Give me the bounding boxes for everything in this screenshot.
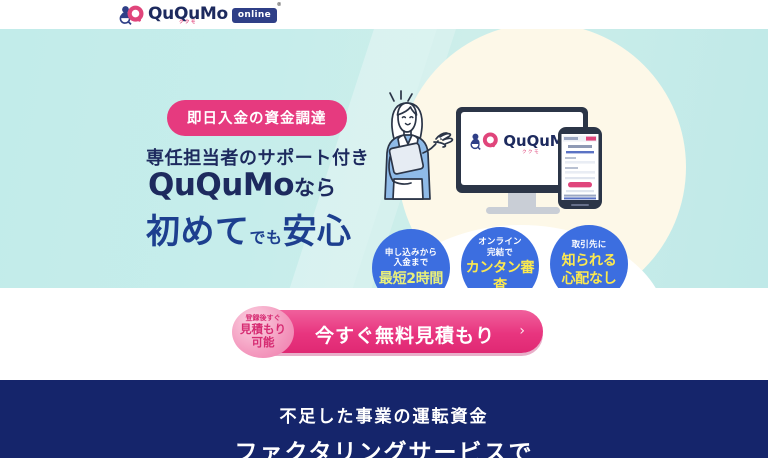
logo-ruby: ククモ [179, 21, 197, 26]
hero-section: QuQuMo ククモ [0, 29, 768, 288]
bottom-headline-line2: ファクタリングサービスで [234, 433, 533, 458]
hero-feature-circles: 申し込みから 入金まで 最短2時間 オンライン 完結で カンタン審査 取引先に … [372, 229, 654, 288]
site-logo[interactable]: QuQuMo ククモ online ® [118, 3, 277, 26]
landing-page: QuQuMo ククモ online ® [0, 0, 768, 458]
smartphone-icon [558, 127, 602, 209]
feature-circle-speed-top2: 入金まで [394, 258, 429, 269]
cta-side-badge-line3: 可能 [252, 336, 275, 350]
hero-badge-pill: 即日入金の資金調達 [167, 100, 347, 136]
trademark-symbol: ® [277, 2, 282, 8]
hero-illustration: QuQuMo ククモ [368, 87, 638, 239]
presenter-woman-icon [385, 91, 452, 199]
cta-side-badge-line2: 見積もり [240, 323, 286, 337]
feature-circle-privacy-value1: 知られる [562, 253, 617, 270]
feature-circle-privacy-top1: 取引先に [572, 240, 607, 251]
cta-section: 今すぐ無料見積もり › [0, 288, 768, 380]
ququmo-q-mark-icon [118, 4, 144, 26]
feature-circle-speed: 申し込みから 入金まで 最短2時間 [372, 229, 450, 288]
cta-side-badge: 登録後すぐ 見積もり 可能 [232, 306, 294, 358]
hero-headline-line3-small: でも [250, 228, 283, 247]
feature-circle-privacy: 取引先に 知られる 心配なし [550, 225, 628, 288]
bottom-headline-line1: 不足した事業の運転資金 [280, 402, 489, 427]
site-header: QuQuMo ククモ online ® [0, 0, 768, 29]
svg-text:ククモ: ククモ [522, 149, 540, 155]
chevron-right-icon: › [519, 323, 525, 339]
hero-headline-line2: QuQuMoなら [148, 170, 336, 201]
hero-headline-line3-b: 安心 [283, 212, 352, 252]
feature-circle-online-top1: オンライン [478, 237, 522, 248]
feature-circle-online-top2: 完結で [487, 248, 513, 259]
logo-online-text: online [238, 10, 271, 20]
feature-circle-speed-value: 最短2時間 [379, 271, 443, 288]
feature-circle-online-value: カンタン審査 [461, 260, 539, 288]
free-quote-button-label: 今すぐ無料見積もり [315, 321, 495, 348]
logo-online-badge: online ® [232, 8, 277, 23]
feature-circle-privacy-value2: 心配なし [562, 271, 617, 288]
hero-headline-brand-suffix: なら [294, 176, 336, 200]
hero-headline-line3: 初めてでも安心 [146, 215, 352, 249]
hero-headline-line3-a: 初めて [146, 212, 250, 252]
hero-headline-brand: QuQuMo [148, 167, 294, 203]
bottom-navy-section: 不足した事業の運転資金 ファクタリングサービスで [0, 380, 768, 458]
feature-circle-speed-top1: 申し込みから [385, 248, 437, 259]
feature-circle-online: オンライン 完結で カンタン審査 [461, 227, 539, 288]
logo-wordmark: QuQuMo ククモ [148, 6, 228, 23]
